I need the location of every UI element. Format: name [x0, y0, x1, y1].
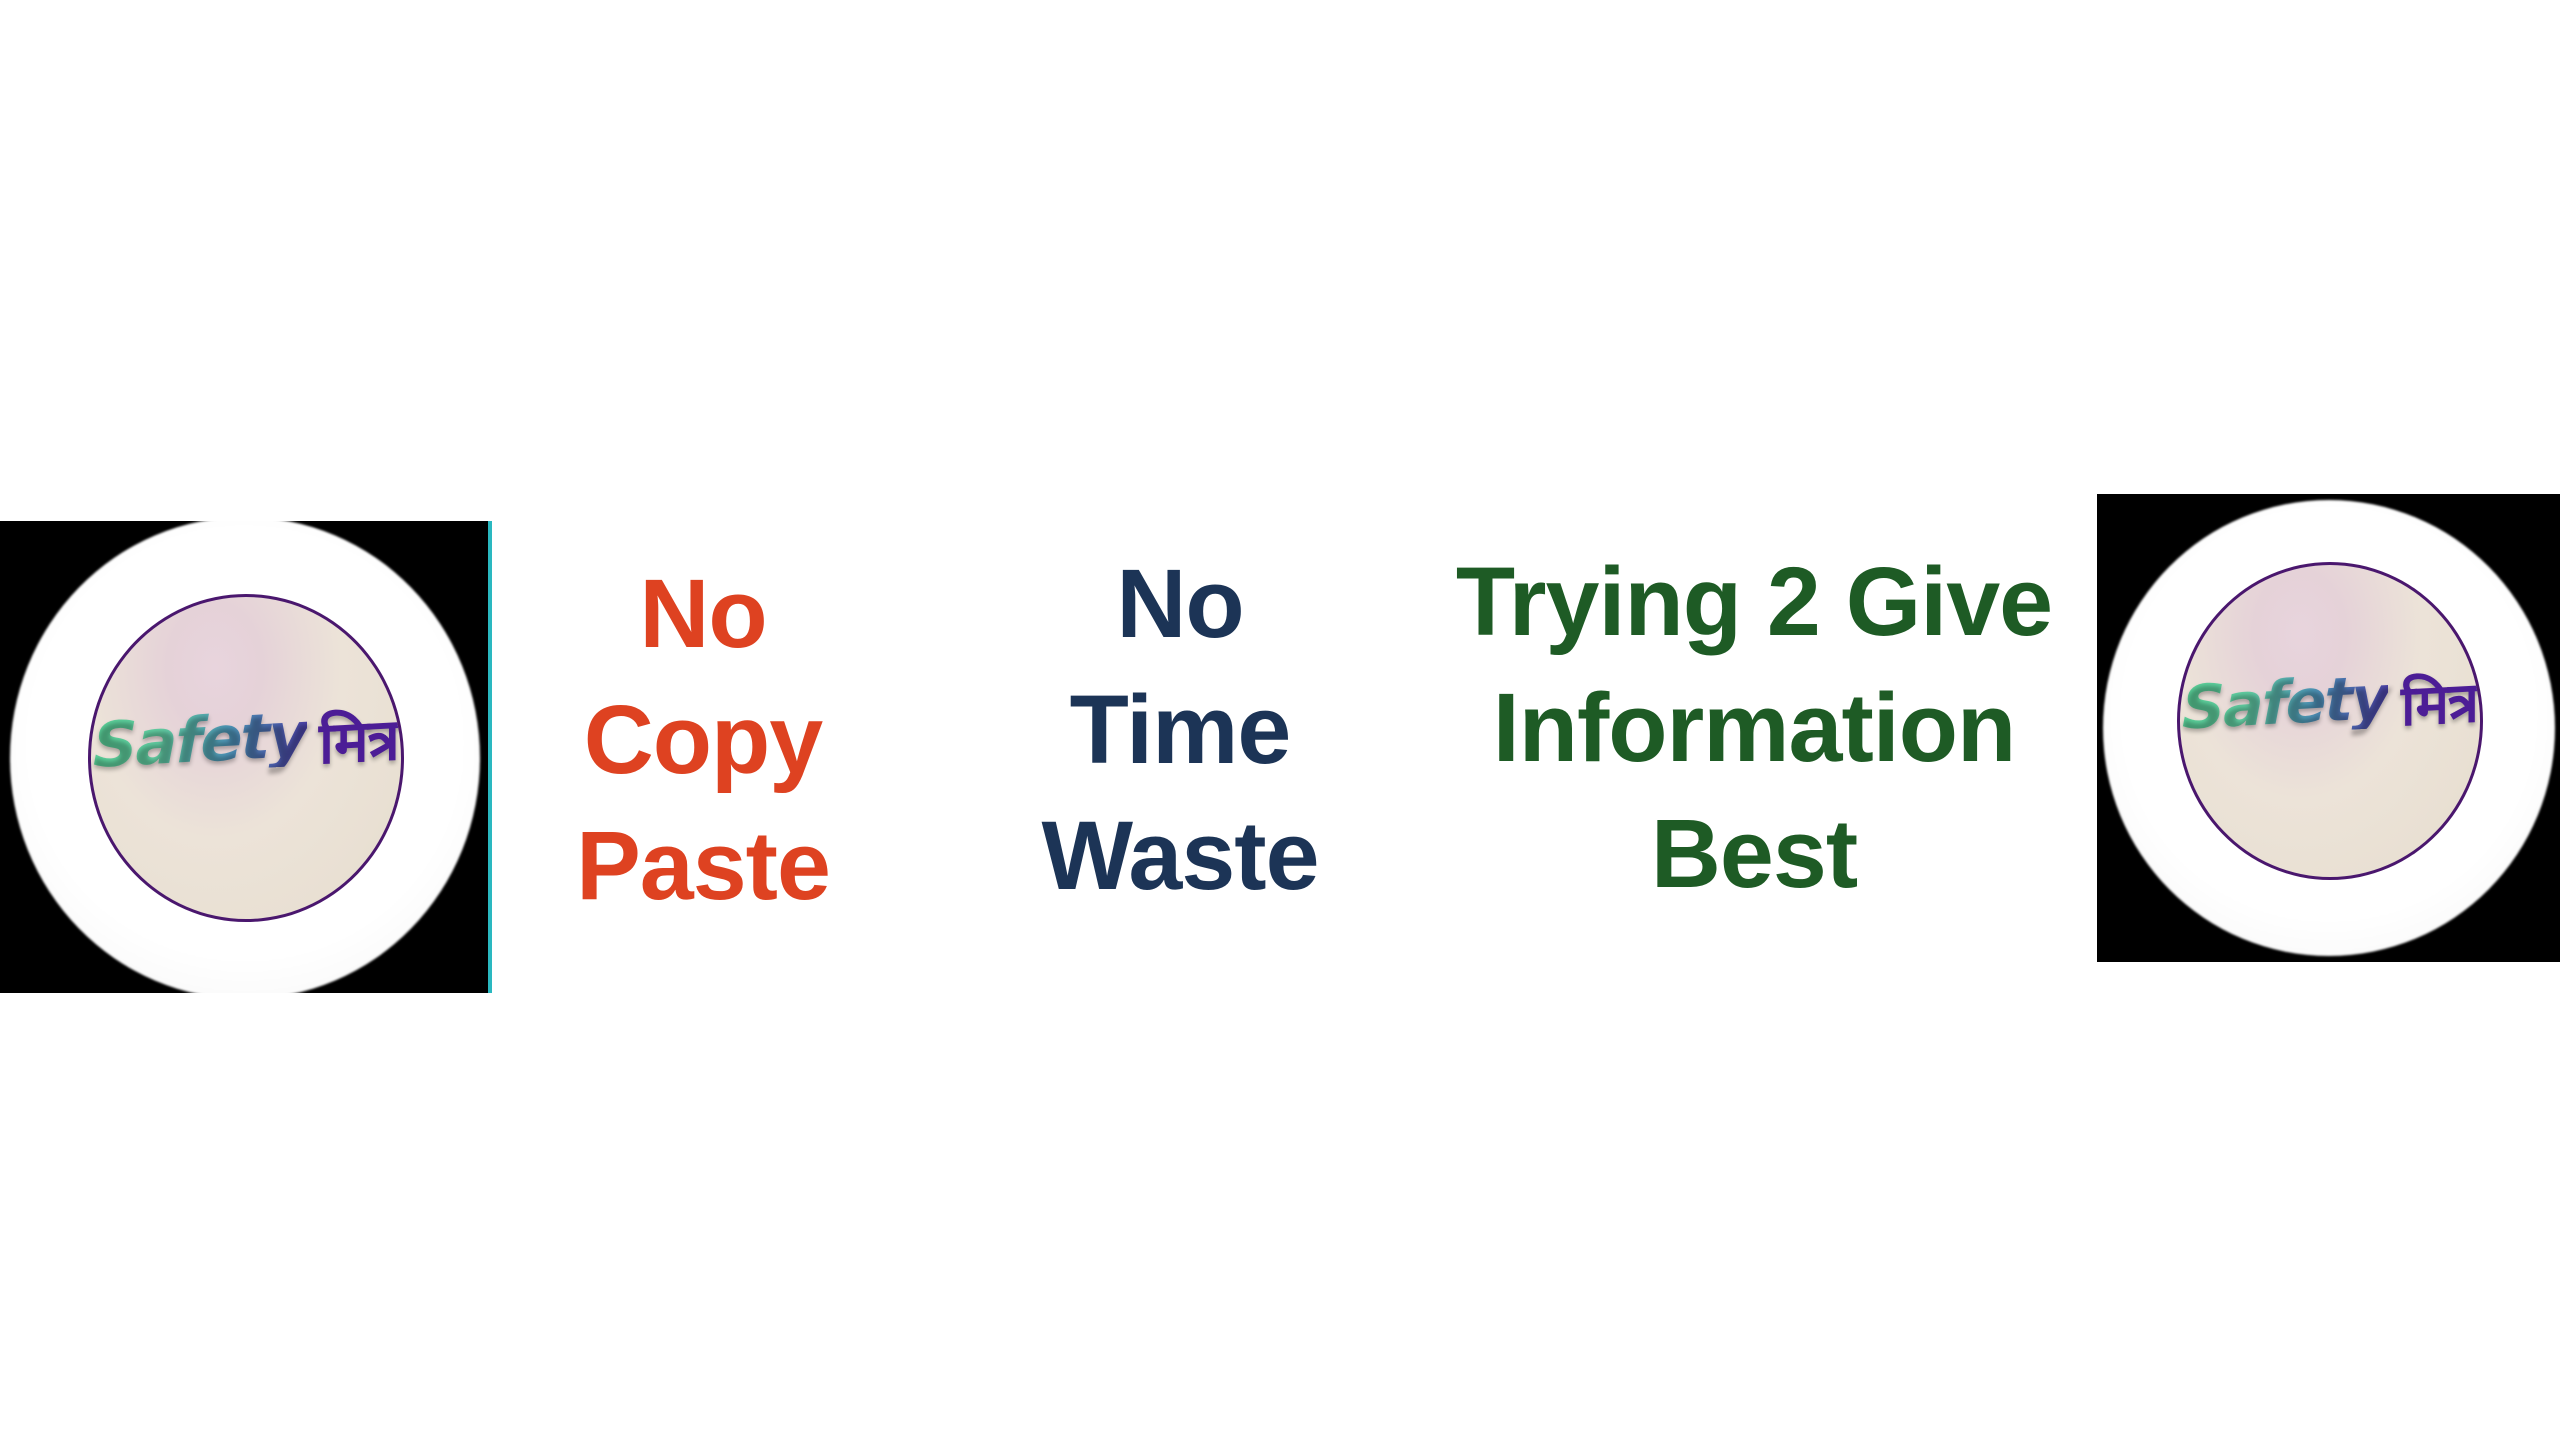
message-red-line-1: No — [528, 551, 878, 677]
logo-wordmark: Safetyमित्र — [91, 709, 401, 771]
message-red-line-2: Copy — [528, 677, 878, 803]
banner-canvas: Safetyमित्र No Copy Paste No Time Waste … — [0, 0, 2560, 1440]
logo-wordmark: Safetyमित्र — [2180, 673, 2480, 733]
message-red-line-3: Paste — [528, 803, 878, 929]
logo-word-mitra: मित्र — [2401, 675, 2478, 735]
logo-word-safety: Safety — [2182, 668, 2388, 739]
logo-panel-left: Safetyमित्र — [0, 521, 492, 993]
message-blue-line-2: Time — [990, 667, 1370, 793]
message-green-line-3: Best — [1404, 791, 2104, 917]
logo-word-safety: Safety — [93, 703, 307, 776]
logo-panel-right: Safetyमित्र — [2097, 494, 2560, 962]
logo-word-mitra: मित्र — [319, 710, 399, 772]
message-no-time-waste: No Time Waste — [990, 541, 1370, 919]
message-green-line-2: Information — [1404, 665, 2104, 791]
message-trying-2-give-information-best: Trying 2 Give Information Best — [1404, 539, 2104, 917]
message-blue-line-1: No — [990, 541, 1370, 667]
message-no-copy-paste: No Copy Paste — [528, 551, 878, 929]
logo-inner-circle: Safetyमित्र — [88, 594, 404, 922]
message-blue-line-3: Waste — [990, 793, 1370, 919]
message-green-line-1: Trying 2 Give — [1404, 539, 2104, 665]
logo-inner-circle: Safetyमित्र — [2177, 562, 2483, 880]
